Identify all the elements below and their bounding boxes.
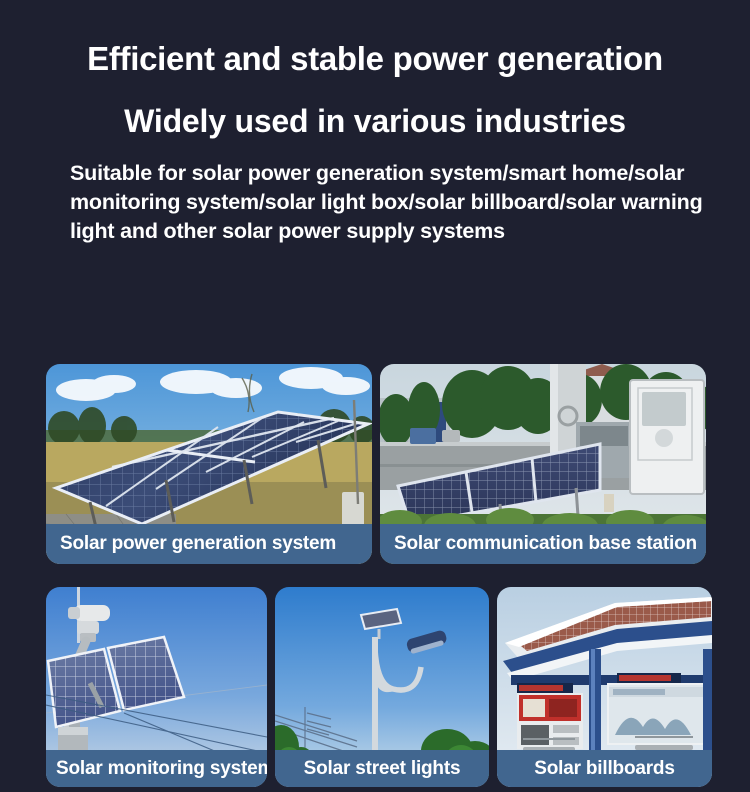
page-title: Efficient and stable power generation — [14, 42, 736, 75]
card-solar-billboards[interactable]: Solar billboards — [497, 587, 712, 787]
card-caption: Solar monitoring system — [46, 750, 267, 787]
card-solar-monitoring-system[interactable]: Solar monitoring system — [46, 587, 267, 787]
card-solar-communication-base-station[interactable]: Solar communication base station — [380, 364, 706, 564]
page-subtitle: Widely used in various industries — [14, 105, 736, 137]
card-caption: Solar street lights — [275, 750, 489, 787]
heading-block: Efficient and stable power generation Wi… — [0, 42, 750, 247]
body-description: Suitable for solar power generation syst… — [70, 159, 730, 247]
card-solar-power-generation-system[interactable]: Solar power generation system — [46, 364, 372, 564]
card-caption: Solar communication base station — [380, 524, 706, 564]
card-caption: Solar power generation system — [46, 524, 372, 564]
card-solar-street-lights[interactable]: Solar street lights — [275, 587, 489, 787]
card-caption: Solar billboards — [497, 750, 712, 787]
card-row-bottom: Solar monitoring system — [46, 587, 704, 787]
card-row-top: Solar power generation system — [46, 364, 706, 564]
